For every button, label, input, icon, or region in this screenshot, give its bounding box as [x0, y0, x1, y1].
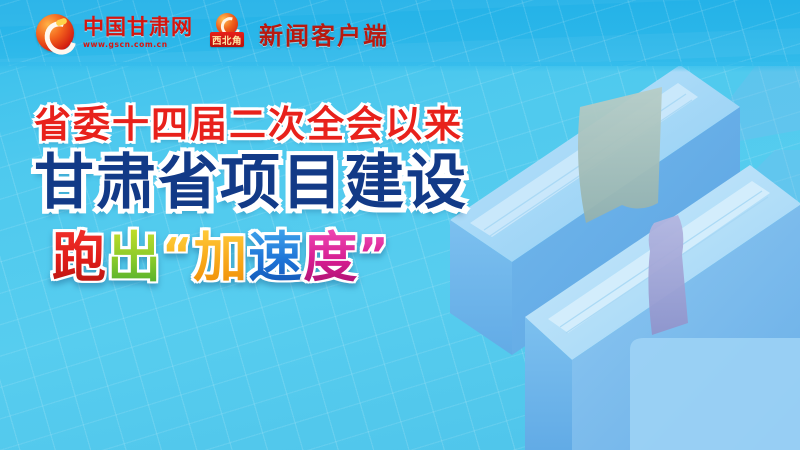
gansu-net-name: 中国甘肃网 — [83, 17, 193, 38]
news-client-title: 新闻客户端 — [259, 16, 389, 51]
gansu-net-flame-logo-icon — [36, 14, 74, 52]
title-kicker: 省委十四届二次全会以来 — [34, 104, 574, 145]
tagline-char-4: 速 — [248, 228, 303, 287]
tagline-char-2: “ — [162, 232, 193, 278]
header-band-fade — [0, 62, 800, 72]
xibeijiao-badge: 西北角 — [210, 32, 244, 47]
tagline-char-5: 度 — [303, 228, 358, 287]
title-main: 甘肃省项目建设 — [34, 151, 574, 216]
xibeijiao-swirl-logo-icon: 西北角 — [210, 13, 244, 53]
tagline-char-1: 出 — [107, 228, 162, 287]
banner-stage: 中国甘肃网 www.gscn.com.cn 西北角 新闻客户端 省委十四届二次全… — [0, 0, 800, 450]
brand-logo-row[interactable]: 中国甘肃网 www.gscn.com.cn 西北角 新闻客户端 — [36, 10, 389, 56]
tagline-char-6: ” — [358, 232, 389, 278]
tagline-char-3: 加 — [193, 228, 248, 287]
gansu-net-wordmark: 中国甘肃网 www.gscn.com.cn — [83, 17, 193, 49]
gansu-net-url: www.gscn.com.cn — [83, 41, 193, 49]
title-tagline: 跑出“加速度” — [52, 228, 574, 287]
tagline-char-0: 跑 — [52, 228, 107, 287]
title-block: 省委十四届二次全会以来 甘肃省项目建设 跑出“加速度” — [34, 104, 574, 288]
